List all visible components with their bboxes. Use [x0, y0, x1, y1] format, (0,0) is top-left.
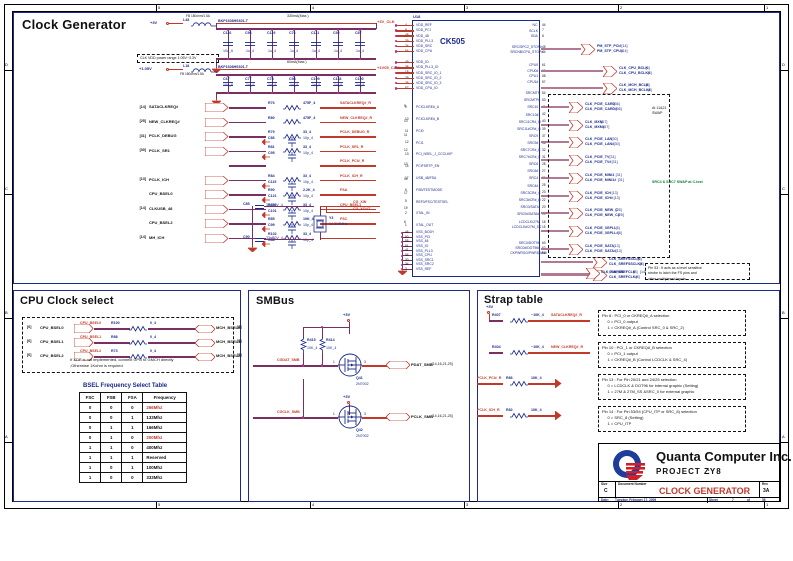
input-sheet-ref-7: [14]	[128, 207, 146, 211]
rail2-cap-junction-bot-5	[337, 92, 339, 94]
chip-left-pin-label-9: VDD_SRC_IO_2	[416, 76, 441, 80]
bsel-fsa-1: 1	[122, 413, 143, 423]
input-port-flag-6	[205, 190, 229, 199]
chip-left-pin-num-14: 11	[405, 129, 408, 133]
chip-left-pin-label-18: USB_48/FSA	[416, 176, 436, 180]
chip-right-pin-label-7: CPU1	[529, 74, 538, 78]
smbus-left-bus	[303, 379, 304, 417]
chip-left-pin-label-30: VSS_SRC2	[416, 262, 434, 266]
rail1-capacitor-icon-3	[289, 40, 299, 48]
strap-res-val-1: ~10K_4	[531, 346, 544, 350]
rev-label: Rev	[762, 483, 768, 486]
input-pin-number-2: 11	[404, 134, 407, 137]
border-ticks-top: 5 4 3 2 1	[4, 4, 789, 12]
bsel-fsb-3: 1	[101, 433, 122, 443]
chip-right-pin-num-27: 16	[542, 220, 546, 224]
rail1-current: 330mA(Max.)	[287, 15, 309, 19]
chip-left-pin-num-23: 46	[405, 230, 409, 234]
input-sheet-ref-3: [30]	[128, 149, 146, 153]
input-wire-b-5	[320, 180, 376, 182]
rail2-cap-junction-bot-1	[249, 92, 251, 94]
chip-refdes: U18	[413, 15, 420, 19]
input-port-flag-9	[205, 234, 229, 243]
chip-right-pin-label-25: SRC0/SATA	[521, 205, 539, 209]
chip-right-pin-num-23: 23	[542, 190, 546, 194]
chip-src-swap-note: SRC4 & SRC7 SWAP at C-test	[652, 181, 703, 185]
rail2-cap-ref-6: C100	[355, 78, 364, 82]
chip-left-pin-num-17: 14	[405, 164, 409, 168]
chip-right-pin-label-4: SRCNB/CPU_STOP#	[510, 50, 543, 54]
chip-right-pin-label-14: SRC11#CR#_G	[517, 127, 541, 131]
input-res-val-9: 33_4	[303, 233, 311, 237]
cpu-clk-res-val-1: 0_4	[150, 336, 156, 340]
input-capacitor-icon-5	[288, 181, 296, 191]
docnum-label: Document Number	[618, 483, 647, 486]
rail1-capacitor-icon-4	[311, 40, 321, 48]
bsel-table-title: BSEL Frequency Select Table	[83, 383, 167, 389]
chip-right-pin-label-1: SCLK	[529, 29, 538, 33]
rail2-cap-junction-top-0	[227, 75, 229, 77]
vss-junction-4	[401, 250, 403, 252]
input-port-flag-3	[205, 147, 229, 156]
smbus-pullup2-val: 10K_4	[326, 347, 336, 351]
chip-right-pin-label-3: SRC/SPC2_STOP#	[512, 45, 542, 49]
strap-arrow-icon-3	[555, 411, 563, 420]
rail1-capacitor-icon-0	[223, 40, 233, 48]
rail2-cap-ref-3: C98	[289, 78, 296, 82]
smbus-pin-out-0: 3	[364, 361, 366, 364]
chip-left-pin-label-22: XTAL_OUT	[416, 223, 433, 227]
rail1-cap-val-3: .1u_4	[289, 50, 298, 54]
chip-left-pin-num-20: 5	[405, 199, 407, 203]
cpu-clk-wire-b-0	[148, 328, 196, 330]
smbus-pin-out-1: 3	[364, 413, 366, 416]
bsel-freq-6: 100Mhz	[143, 463, 187, 473]
input-signal-name-2: PCLK_DEBUG	[149, 134, 177, 138]
rail1-cap-junction-bot-0	[227, 58, 229, 60]
chip-left-pin-label-20: REF0/FSC/TESTSEL	[416, 200, 448, 204]
chip-right-pin-label-0: NC	[533, 23, 538, 27]
rail2-cap-val-4: .1u_4	[311, 84, 320, 88]
chip-left-pin-label-21: XTAL_IN	[416, 211, 430, 215]
rail2-cap-val-0: 10u_6	[223, 84, 233, 88]
strap-arrow-icon-2	[555, 379, 563, 388]
input-cap-val-5: 10p_4	[303, 181, 313, 185]
chip-right-pin-label-29: SRC0/DOT96	[519, 241, 540, 245]
rail2-cap-junction-bot-0	[227, 92, 229, 94]
input-res-ref-6: R90	[268, 189, 275, 193]
crystal-value: 14.318MHz	[329, 223, 347, 227]
input-wire-a-2	[229, 136, 266, 138]
input-net-name-6: FSA	[340, 189, 347, 193]
chip-right-pin-label-6: CPU0#	[527, 69, 538, 73]
bsel-header-0: FSC	[80, 393, 101, 403]
chip-swap-note: At 11&21 SWAP	[652, 106, 667, 117]
input-port-flag-8	[205, 219, 229, 228]
smbus-out-wire-1	[362, 417, 387, 419]
chip-right-pin-label-19: SRC6	[529, 162, 538, 166]
strap-res-val-3: 10K_4	[531, 409, 542, 413]
input-wire-a-0	[229, 107, 266, 109]
chip-left-pin-wire-3	[396, 41, 414, 42]
bsel-fsb-0: 0	[101, 403, 122, 413]
chip-right-pin-label-15: SRC9	[529, 134, 538, 138]
chip-left-pin-label-16: PCI_NSEL_J_CCCLKIP	[416, 152, 453, 156]
smbus-q-ref-1: Q42	[356, 429, 363, 433]
border-ticks-bottom: 5 4 3 2 1	[4, 501, 789, 509]
chip-left-pin-num-25: 55	[405, 239, 409, 243]
rail1-cap-val-2: .1u_4	[267, 50, 276, 54]
rail2-cap-val-5: .1u_4	[333, 84, 342, 88]
chip-left-pin-label-13: PCICLKRE#_B	[416, 117, 439, 121]
output-port-flag-pwrgd	[586, 268, 600, 279]
bsel-header-2: FSA	[122, 393, 143, 403]
bsel-fsc-2: 0	[80, 423, 101, 433]
rail2-source: +1.05V	[139, 67, 152, 71]
bsel-fsa-7: 0	[122, 473, 143, 483]
chip-left-pin-label-19: FSB/TESTMODE	[416, 188, 442, 192]
rail2-cap-junction-top-2	[271, 75, 273, 77]
bsel-fsc-4: 1	[80, 443, 101, 453]
chip-right-pin-label-17: SRC7CR#_E	[521, 148, 541, 152]
input-sheet-ref-9: [14]	[128, 236, 146, 240]
input-net-name-4: PCLK_PCI#_R	[340, 160, 364, 164]
rail1-cap-junction-top-3	[293, 29, 295, 31]
chip-right-pin-label-22: SRC4#	[527, 184, 538, 188]
bsel-fsa-2: 1	[122, 423, 143, 433]
output-port-flag-4	[603, 83, 617, 94]
bsel-fsb-6: 0	[101, 463, 122, 473]
chip-left-pin-label-6: VDD_IO	[416, 60, 429, 64]
crystal-icon	[313, 215, 327, 233]
smbus-pin-in-1: 1	[333, 413, 335, 416]
chip-left-pin-wire-6	[396, 62, 414, 63]
chip-right-pin-label-8: CPU1#	[527, 80, 538, 84]
bsel-fsa-5: 1	[122, 453, 143, 463]
chip-part-number: CK505	[440, 38, 465, 46]
input-signal-name-3: PCLK_SR1	[149, 149, 170, 153]
rail2-cap-val-3: .1u_4	[289, 84, 298, 88]
input-signal-name-6: CPU_BSEL0	[149, 192, 173, 196]
smbus-in-net-1: CGCLK_SMB	[277, 411, 300, 415]
rail1-cap-junction-bot-5	[337, 58, 339, 60]
smbus-rail1-label: +3V	[343, 313, 350, 317]
chip-left-pin-label-26: VSS_IO	[416, 244, 428, 248]
input-sheet-ref-1: [25]	[128, 120, 146, 124]
input-net-name-1: NEW_CLKREQ#_R	[340, 117, 372, 121]
bsel-fsb-2: 1	[101, 423, 122, 433]
rail1-cap-junction-top-6	[359, 29, 361, 31]
chip-right-pin-label-13: SRC11CR#_H	[519, 120, 541, 124]
chip-left-pin-label-7: VDD_PLL3_IO	[416, 65, 438, 69]
strap-resistor-icon-2	[510, 380, 528, 387]
input-signal-name-7: CLKUSB_48	[149, 207, 172, 211]
input-sheet-ref-0: [14]	[128, 106, 146, 110]
chip-right-pin-label-5: CPU0	[529, 63, 538, 67]
input-wire-a-8	[229, 223, 266, 225]
size-value: C	[604, 489, 608, 494]
company-name: Quanta Computer Inc.	[656, 450, 792, 463]
chip-right-pin-label-9: SRCMTP	[526, 91, 540, 95]
bsel-row-0: 000266Mhz	[80, 403, 187, 413]
chip-right-pin-label-27: LCDCLK/27M	[519, 220, 540, 224]
chip-left-pin-num-31: 3	[405, 267, 407, 271]
bsel-row-6: 101100Mhz	[80, 463, 187, 473]
chip-right-pin-label-30: SRC0#/DOT96#	[515, 246, 540, 250]
chip-left-pin-label-15: PCI1	[416, 141, 424, 145]
chip-right-pin-num-1: 7	[542, 28, 544, 32]
smbus-mosfet-icon-0	[338, 353, 362, 377]
bsel-fsb-5: 1	[101, 453, 122, 463]
cpu-clk-wire-b-1	[148, 342, 196, 344]
strap-note-box-0: Pin 8 : PCI_0 or CKREQ#_A selection 0 = …	[598, 310, 746, 336]
chip-left-pin-label-28: VSS_CPU	[416, 253, 432, 257]
output-port-flag-24	[593, 257, 607, 268]
rail1-capacitor-icon-2	[267, 40, 277, 48]
rail1-cap-ref-2: C119	[267, 32, 275, 36]
chip-right-pin-num-14: 39	[542, 127, 546, 131]
chip-right-pin-label-16: SRC9#	[527, 141, 538, 145]
chip-left-pin-num-15: 12	[405, 140, 409, 144]
input-net-name-5: PCLK_ICH_R	[340, 175, 363, 179]
input-res-val-5: 33_4	[303, 175, 311, 179]
chip-left-pin-wire-11	[396, 88, 414, 89]
chip-left-pin-num-16: 13	[405, 152, 409, 156]
bsel-fsc-7: 1	[80, 473, 101, 483]
input-port-flag-5	[205, 176, 229, 185]
strap-net-left-3: PCLK_ICH_R	[477, 409, 500, 413]
bsel-row-4: 110400Mhz	[80, 443, 187, 453]
input-res-ref-8: R85	[268, 218, 275, 222]
bsel-frequency-table: FSCFSBFSAFrequency 000266Mhz001133Mhz011…	[79, 392, 187, 483]
rail1-cap-ref-4: C111	[311, 32, 319, 36]
input-cap-val-3: 10p_4	[303, 152, 313, 156]
rail1-inductor-icon	[191, 19, 217, 27]
input-cap-val-2: 10p_4	[303, 137, 313, 141]
rail1-cap-ref-6: C87	[355, 32, 362, 36]
cpu-clk-in-name-1: CPU_BSEL1	[40, 340, 64, 344]
quanta-logo-icon	[607, 448, 649, 480]
chip-right-pin-label-23: SRC3CR#_C	[521, 191, 541, 195]
vss-junction-2	[401, 241, 403, 243]
chip-left-pin-label-14: PCI0	[416, 129, 424, 133]
input-res-val-1: 475F_4	[303, 117, 315, 121]
chip-left-pin-label-2: VDD_48	[416, 34, 429, 38]
chip-left-pin-wire-10	[396, 83, 414, 84]
sheet-label: Sheet	[709, 499, 718, 502]
input-capacitor-icon-8	[288, 224, 296, 234]
rail2-cap-val-6: .1u_4	[355, 84, 364, 88]
chip-left-pin-wire-5	[396, 51, 414, 52]
project-name: ZY8	[704, 468, 722, 476]
rail1-net: +3V_CLK	[377, 20, 395, 24]
input-capacitor-icon-7	[288, 210, 296, 220]
pin53-note: Pin 53 : It acts as a level sensitive st…	[648, 266, 702, 283]
input-res-val-8: 10K_4	[303, 218, 314, 222]
chip-left-pin-label-10: VDD_SRC_IO_3	[416, 81, 441, 85]
input-wire-a-1	[229, 122, 266, 124]
project-label: PROJECT :	[656, 468, 711, 476]
cpu-clk-out-port-1	[195, 339, 215, 347]
chip-right-pin-num-4: 44	[542, 50, 546, 54]
rail1-ferrite-part: BKP1608HS601-T	[218, 20, 248, 24]
smbus-pullup2-ref: R414	[326, 339, 335, 343]
input-wire-b-0	[320, 107, 376, 109]
cpu-clk-sheet-out-1: [8]	[237, 340, 241, 344]
input-res-ref-0: R76	[268, 102, 275, 106]
crystal-cap2-ref: C90	[243, 236, 250, 240]
input-sheet-ref-2: [31]	[128, 135, 146, 139]
input-net-name-2: PCLK_DEBUG_R	[340, 131, 369, 135]
chip-right-pin-num-19: 28	[542, 162, 546, 166]
input-res-ref-5: R84	[268, 175, 275, 179]
chip-left-pin-label-24: VSS_PCI	[416, 235, 430, 239]
rail1-cap-ref-0: C116	[223, 32, 231, 36]
chip-right-pin-label-21: SRC4	[529, 176, 538, 180]
chip-right-pin-num-7: 58	[542, 74, 546, 78]
rail1-cap-val-4: .1u_4	[311, 50, 320, 54]
chip-right-pin-num-20: 27	[542, 169, 546, 173]
input-wire-b-9	[320, 238, 376, 240]
chip-right-pin-label-18: SRC7#CR#_F	[519, 155, 541, 159]
chip-left-pin-label-0: VDD_REF	[416, 23, 432, 27]
input-port-flag-0	[205, 103, 229, 112]
cpu-clk-net-in-1: CPU_BSEL1	[80, 336, 101, 340]
input-signal-name-1: NEW_CLKREQ#	[149, 120, 180, 124]
input-wire-a-4	[229, 165, 266, 167]
chip-left-pin-label-29: VSS_SRC1	[416, 258, 434, 262]
input-res-val-0: 475F_4	[303, 102, 315, 106]
input-cap-val-6: 10p_4	[303, 195, 313, 199]
input-cap-ground-icon-3	[262, 154, 270, 160]
strap-note-box-1: Pin 10 : PCI_1 or CKREQ#_B selection 0 =…	[598, 342, 746, 368]
rail2-cap-junction-bot-3	[293, 92, 295, 94]
strap-res-val-2: 10K_4	[531, 377, 542, 381]
crystal-ref: Y3	[329, 217, 333, 221]
chip-right-pin-num-22: 25	[542, 183, 546, 187]
bsel-fsa-6: 1	[122, 463, 143, 473]
input-res-ref-3: R81	[268, 146, 275, 150]
chip-left-pin-num-19: 6	[405, 188, 407, 192]
strap-wire-a-3	[477, 415, 503, 417]
chip-right-pin-num-15: 37	[542, 134, 546, 138]
chip-right-pin-num-29: 63	[542, 241, 546, 245]
rail1-capacitor-icon-5	[333, 40, 343, 48]
chip-right-pin-num-10: 53	[542, 98, 546, 102]
smbus-rail2-label: +3V	[343, 395, 350, 399]
bsel-fsa-4: 0	[122, 443, 143, 453]
cpu-clk-out-port-2	[195, 353, 215, 361]
cpu-clk-resistor-icon-1	[129, 339, 147, 346]
rail1-cap-ref-3: C76	[289, 32, 296, 36]
bsel-fsc-3: 0	[80, 433, 101, 443]
input-res-val-6: 2.2K_4	[303, 189, 315, 193]
cpu-clk-wire-a-1	[94, 342, 130, 344]
chip-left-pin-num-24: 50	[405, 235, 409, 239]
swap-dashed-region	[548, 94, 670, 258]
smbus-in-wire-1	[253, 417, 338, 419]
rail1-cap-junction-top-2	[271, 29, 273, 31]
rail1-source: +3V	[150, 21, 157, 25]
chip-right-pin-label-10: SRCMTP#	[524, 98, 540, 102]
rev-value: 3A	[763, 489, 769, 494]
cpu-clk-wire-a-0	[94, 328, 130, 330]
input-wire-a-5	[229, 180, 266, 182]
smbus-out-port-0	[386, 361, 410, 369]
chip-left-pin-label-3: VDD_PLL3	[416, 39, 433, 43]
cpu-clk-res-ref-1: R88	[111, 336, 118, 340]
chip-left-pin-num-29: 30	[405, 258, 409, 262]
rail2-cap-ref-4: C109	[311, 78, 320, 82]
input-capacitor-icon-2	[288, 137, 296, 147]
vss-junction-5	[401, 255, 403, 257]
input-capacitor-icon-3	[288, 152, 296, 162]
bsel-freq-4: 400Mhz	[143, 443, 187, 453]
input-signal-name-0: SATACLKREQ#	[149, 105, 178, 109]
bsel-fsc-6: 1	[80, 463, 101, 473]
smbus-pullup-r415-icon	[300, 337, 307, 353]
input-port-flag-7	[205, 205, 229, 214]
chip-right-pin-label-12: SRC10#	[526, 113, 539, 117]
smbus-mosfet-icon-1	[338, 405, 362, 429]
bsel-fsc-0: 0	[80, 403, 101, 413]
rail2-cap-junction-top-1	[249, 75, 251, 77]
strap-net-0: SATACLKREQ#_R	[551, 314, 582, 318]
cpu-clk-in-name-2: CPU_BSEL2	[40, 354, 64, 358]
chip-right-pin-num-13: 40	[542, 119, 546, 123]
strap-note-box-2: Pin 13 : For Pin 20/21 and 24/25 selecti…	[598, 374, 746, 400]
bsel-row-3: 010200Mhz	[80, 433, 187, 443]
rail2-cap-ref-0: C67	[223, 78, 230, 82]
chip-right-pin-num-9: 54	[542, 91, 546, 95]
input-wire-b-2	[320, 136, 376, 138]
rail1-cap-junction-top-1	[249, 29, 251, 31]
input-net-name-0: SATACLKREQ#_R	[340, 102, 371, 106]
input-res-ref-1: R80	[268, 117, 275, 121]
bsel-header-3: Frequency	[143, 393, 187, 403]
rail2-cap-junction-top-6	[359, 75, 361, 77]
bsel-fsa-3: 0	[122, 433, 143, 443]
rail2-ferrite-value: FB 180ohm/1.5A	[180, 73, 204, 76]
strap-resistor-icon-0	[510, 317, 528, 324]
crystal-ground-icon	[248, 245, 257, 252]
input-wire-a-3	[229, 151, 266, 153]
chip-right-pin-num-17: 32	[542, 148, 546, 152]
chip-right-pin-label-11: SRC10	[527, 105, 538, 109]
chip-left-pin-wire-1	[396, 30, 414, 31]
output-port-flag-0	[581, 44, 595, 55]
input-port-flag-1	[205, 118, 229, 127]
rail2-cap-val-2: .1u_4	[267, 84, 276, 88]
cpu-clk-resistor-icon-0	[129, 325, 147, 332]
input-resistor-icon-1	[283, 118, 301, 125]
rail2-cap-junction-bot-2	[271, 92, 273, 94]
input-wire-b-1	[320, 122, 376, 124]
panel-smbus	[248, 290, 470, 502]
chip-right-pin-num-24: 22	[542, 198, 546, 202]
output-signal-sheet-25: [8]	[638, 263, 644, 267]
rail2-cap-val-1: .1u_4	[245, 84, 254, 88]
cpu-clk-res-val-0: 0_4	[150, 322, 156, 326]
sheet-number: 7	[732, 499, 734, 502]
output-wire-0	[541, 48, 581, 50]
cpu-clk-in-name-0: CPU_BSEL0	[40, 326, 64, 330]
input-pin-number-6: 17	[404, 192, 408, 195]
strap-wire-a-1	[489, 352, 503, 354]
chip-left-pin-wire-4	[396, 46, 414, 47]
strap-res-ref-0: R407	[492, 314, 501, 318]
crystal-cap1-ref: C85	[243, 203, 250, 207]
